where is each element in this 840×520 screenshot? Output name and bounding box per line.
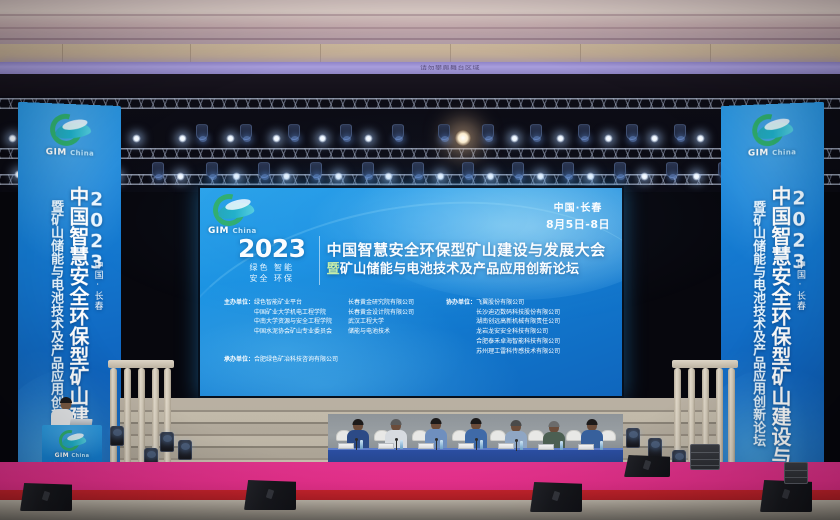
- moving-head-light: [196, 124, 208, 140]
- undertaker-row: 承办单位： 合肥绿色矿冶科技咨询有限公司: [224, 354, 338, 363]
- screen-logo-text: GIM: [208, 226, 229, 236]
- host-org: 中国矿业大学机电工程学院: [254, 308, 332, 318]
- ceiling: [0, 0, 840, 44]
- host-org: 中南大学资源与安全工程学院: [254, 317, 332, 327]
- right-banner-logo-sub: China: [772, 148, 796, 157]
- title-divider: [319, 236, 320, 285]
- stage-monitor-speaker: [20, 483, 72, 511]
- host-column: 主办单位： 绿色智能矿业平台 中国矿业大学机电工程学院 中南大学资源与安全工程学…: [224, 298, 332, 356]
- gim-emblem-icon: [47, 113, 93, 149]
- host-org: 武汉工程大学: [348, 317, 414, 327]
- right-banner-logo: GIM China: [741, 113, 803, 160]
- screen-year-block: 2023 绿色 智能 安全 环保: [238, 236, 312, 285]
- host-org: 长春黄金研究院有限公司: [348, 298, 414, 308]
- equipment-flight-case: [690, 444, 720, 470]
- cohost-org: 飞翼股份有限公司: [476, 298, 560, 308]
- undertaker-org: 合肥绿色矿冶科技咨询有限公司: [254, 354, 338, 363]
- floor-moving-light: [648, 438, 662, 458]
- key-spotlight: [455, 130, 471, 146]
- moving-head-light: [530, 124, 542, 140]
- floor-moving-light: [178, 440, 192, 460]
- left-banner-logo-sub: China: [70, 149, 94, 158]
- screen-logo: GIM China: [208, 194, 257, 237]
- front-floor: [0, 500, 840, 520]
- floor-moving-light: [160, 432, 174, 452]
- lighting-truss-zone: [0, 96, 840, 192]
- moving-head-light: [340, 124, 352, 140]
- floor-moving-light: [110, 426, 124, 446]
- screen-city: 中国·长春: [546, 202, 610, 217]
- stage-monitor-speaker: [624, 455, 670, 477]
- equipment-flight-case: [784, 462, 808, 484]
- moving-head-light: [240, 124, 252, 140]
- right-banner-subtitle: 暨矿山储能与电池技术及产品应用创新论坛: [751, 200, 764, 447]
- moving-head-light: [626, 124, 638, 140]
- moving-head-light: [288, 124, 300, 140]
- moving-head-light: [392, 124, 404, 140]
- cohost-org: 苏州理工雷科传感技术有限公司: [476, 347, 560, 357]
- screen-subtitle: 矿山储能与电池技术及产品应用创新论坛: [340, 262, 579, 277]
- gim-emblem-icon: [57, 430, 87, 452]
- screen-subtitle-prefix: 暨: [327, 262, 340, 277]
- screen-location-block: 中国·长春 8月5日-8日: [546, 202, 610, 232]
- podium-logo-sub: China: [71, 453, 89, 459]
- stage-photograph: 请勿攀爬舞台区域: [0, 0, 840, 520]
- host-org: 储能与电池技术: [348, 327, 414, 337]
- screen-year: 2023: [238, 236, 306, 261]
- left-banner-logo: GIM China: [39, 113, 101, 160]
- stage-monitor-speaker: [530, 482, 582, 512]
- screen-slogan-line1: 绿色 智能: [238, 263, 306, 274]
- gim-emblem-icon: [749, 113, 795, 149]
- moving-head-light: [578, 124, 590, 140]
- ceiling-led-strip-text: 请勿攀爬舞台区域: [420, 64, 480, 72]
- stage-monitor-speaker: [760, 480, 812, 512]
- podium-logo-text: GIM: [55, 452, 69, 459]
- cohost-column: 协办单位： 飞翼股份有限公司 长沙迪迈数码科技股份有限公司 湖南创远高新机械有限…: [446, 298, 560, 356]
- cohost-org: 合肥泰禾卓海智能科技有限公司: [476, 337, 560, 347]
- screen-main-title: 中国智慧安全环保型矿山建设与发展大会: [327, 242, 618, 260]
- moving-head-light: [674, 124, 686, 140]
- undertaker-label: 承办单位：: [224, 354, 254, 363]
- cohost-org: 湖南创远高新机械有限责任公司: [476, 317, 560, 327]
- stage-monitor-speaker: [244, 480, 296, 510]
- gim-emblem-icon: [210, 194, 254, 226]
- floor-moving-light: [626, 428, 640, 448]
- moving-head-light: [482, 124, 494, 140]
- host-org: 中国水泥协会矿山专业委员会: [254, 327, 332, 337]
- left-banner-place: 中国·长春: [92, 260, 101, 311]
- right-banner-logo-text: GIM: [748, 148, 769, 159]
- cohost-label: 协办单位：: [446, 298, 476, 356]
- screen-slogan-line2: 安全 环保: [238, 274, 306, 285]
- sponsor-block: 主办单位： 绿色智能矿业平台 中国矿业大学机电工程学院 中南大学资源与安全工程学…: [224, 298, 612, 356]
- right-banner-place: 中国·长春: [795, 260, 804, 311]
- right-banner-title: 中国智慧安全环保型矿山建设与发展大会: [769, 186, 790, 507]
- wall-band: [0, 44, 840, 62]
- cohost-org: 龙岩龙安安全科技有限公司: [476, 327, 560, 337]
- host-org: 长春黄金设计院有限公司: [348, 308, 414, 318]
- main-led-screen: GIM China 中国·长春 8月5日-8日 2023 绿色 智能 安全 环保…: [198, 186, 624, 398]
- left-banner-logo-text: GIM: [46, 147, 67, 158]
- host-column-2: 长春黄金研究院有限公司 长春黄金设计院有限公司 武汉工程大学 储能与电池技术: [348, 298, 414, 356]
- screen-date: 8月5日-8日: [546, 217, 610, 233]
- host-org: 绿色智能矿业平台: [254, 298, 332, 308]
- host-label: 主办单位：: [224, 298, 254, 356]
- left-balustrade: [108, 360, 174, 472]
- cohost-org: 长沙迪迈数码科技股份有限公司: [476, 308, 560, 318]
- moving-head-light: [438, 124, 450, 140]
- screen-title-row: 2023 绿色 智能 安全 环保 中国智慧安全环保型矿山建设与发展大会 暨矿山储…: [238, 236, 618, 285]
